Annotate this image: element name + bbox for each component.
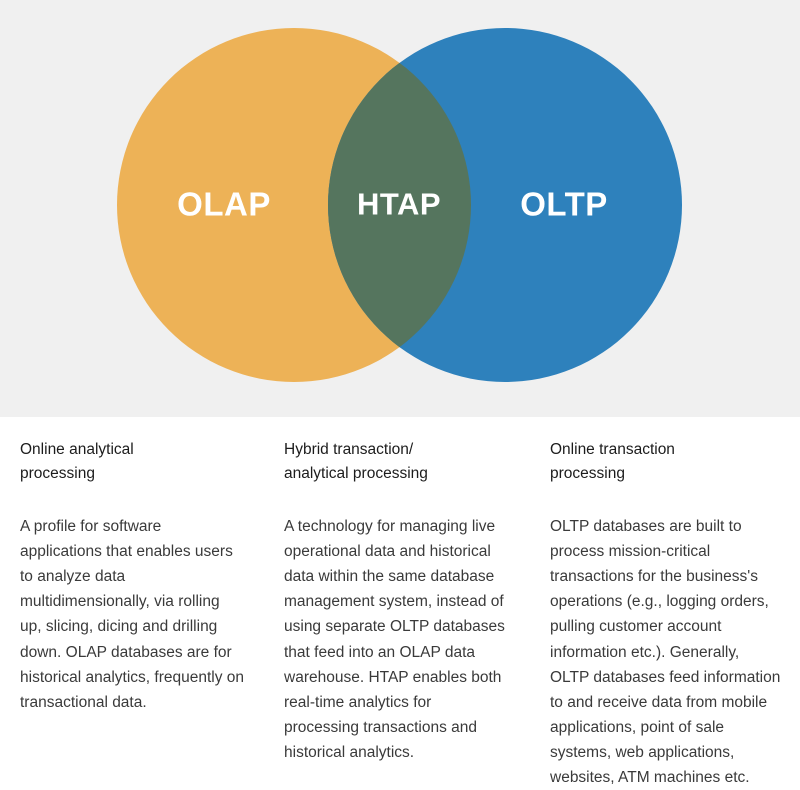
htap-intersection-label: HTAP (357, 189, 441, 220)
description-column-oltp: Online transaction processing OLTP datab… (535, 417, 800, 790)
description-column-htap: Hybrid transaction/ analytical processin… (272, 417, 535, 765)
olap-circle-label: OLAP (177, 188, 271, 221)
olap-column-heading: Online analytical processing (20, 438, 244, 486)
oltp-column-body: OLTP databases are built to process miss… (550, 514, 782, 790)
oltp-column-heading: Online transaction processing (550, 438, 782, 486)
page-root: OLAP HTAP OLTP Online analytical process… (0, 0, 800, 739)
description-column-olap: Online analytical processing A profile f… (0, 417, 272, 715)
htap-column-heading: Hybrid transaction/ analytical processin… (284, 438, 507, 486)
description-columns: Online analytical processing A profile f… (0, 417, 800, 739)
venn-diagram-panel: OLAP HTAP OLTP (0, 0, 800, 417)
oltp-circle-label: OLTP (520, 188, 608, 221)
venn-diagram-stage: OLAP HTAP OLTP (0, 0, 800, 417)
olap-column-body: A profile for software applications that… (20, 514, 244, 715)
htap-column-body: A technology for managing live operation… (284, 514, 507, 765)
